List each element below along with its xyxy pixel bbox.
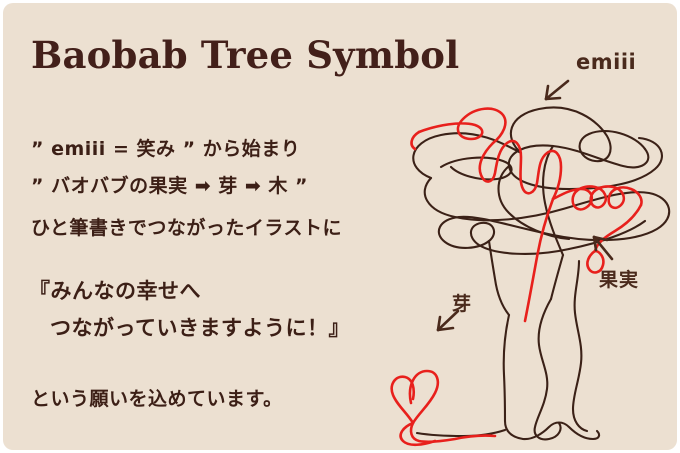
annotation-label-kajitsu: 果実 xyxy=(599,265,639,292)
sprout-heart-red-path xyxy=(392,371,495,445)
intro-line-1: ” emiii = 笑み ” から始まり xyxy=(31,134,300,161)
wish-line-2: つながっていきますように！』 xyxy=(50,312,350,342)
text-column: Baobab Tree Symbol ” emiii = 笑み ” から始まり … xyxy=(3,3,423,450)
closing-line: という願いを込めています。 xyxy=(31,384,283,411)
symbol-card: Baobab Tree Symbol ” emiii = 笑み ” から始まり … xyxy=(3,3,677,450)
wish-line-1: 『みんなの幸せへ xyxy=(29,275,201,305)
intro-line-3: ひと筆書きでつながったイラストに xyxy=(31,213,342,240)
annotation-label-me: 芽 xyxy=(452,289,472,316)
annotation-label-emiii: emiii xyxy=(576,50,636,74)
emiii-arrow-icon xyxy=(546,81,568,99)
intro-line-2: ” バオバブの果実 ➡ 芽 ➡ 木 ” xyxy=(31,171,308,198)
baobab-tree-illustration: emiii 果実 芽 xyxy=(383,3,677,450)
